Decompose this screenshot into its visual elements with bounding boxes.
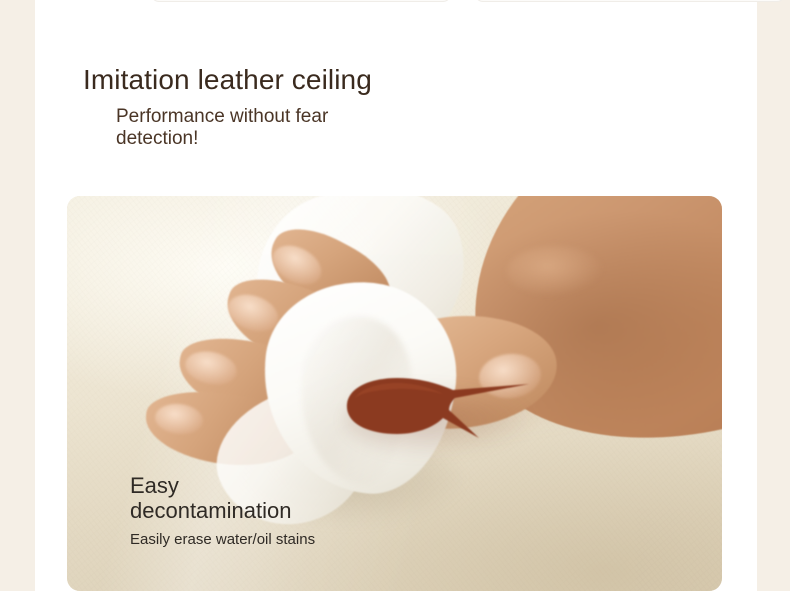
liquid-stain-icon [339,364,539,460]
photo-overlay-subtitle: Easily erase water/oil stains [130,530,430,550]
page-title: Imitation leather ceiling [83,62,723,98]
previous-section-card-left [151,0,451,2]
photo-overlay-title: Easy decontamination [130,473,280,523]
photo-overlay-title-clip: Easy decontamination [130,473,430,529]
page-subtitle: Performance without fear detection! [116,106,388,150]
liquid-stain [339,364,539,460]
feature-photo-card[interactable]: Easy decontamination Easily erase water/… [67,196,722,591]
previous-section-card-right [475,0,785,2]
heading-block: Imitation leather ceiling Performance wi… [83,62,723,150]
content-area: Imitation leather ceiling Performance wi… [35,0,757,591]
knuckle-highlight [507,246,603,296]
left-page-margin [0,0,35,591]
page-root: Imitation leather ceiling Performance wi… [0,0,790,591]
right-page-margin [757,0,790,591]
photo-overlay-caption: Easy decontamination Easily erase water/… [130,473,430,591]
